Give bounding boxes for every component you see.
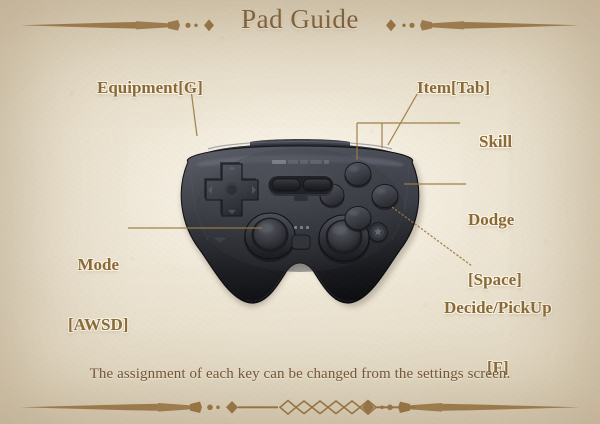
gamepad-star-button [368, 223, 388, 243]
label-decide: Decide/PickUp [F] [444, 258, 552, 418]
label-mode-key: [AWSD] [68, 315, 128, 335]
label-mode-name: Mode [68, 255, 128, 275]
label-item: Item[Tab] [400, 58, 490, 118]
label-equipment: Equipment[G] [80, 58, 203, 118]
label-mode: Mode [AWSD] [68, 215, 128, 375]
gamepad-led-indicators [294, 226, 309, 229]
gamepad-illustration [150, 118, 450, 318]
bottom-ornament-icon [18, 396, 582, 418]
label-decide-name: Decide/PickUp [444, 298, 552, 318]
gamepad-button-x [345, 162, 371, 185]
gamepad-button-a [372, 184, 398, 207]
label-dodge-name: Dodge [468, 210, 522, 230]
settings-note: The assignment of each key can be change… [0, 366, 600, 383]
label-skill-text: Skill [479, 132, 512, 151]
gamepad-button-minus [272, 179, 300, 191]
gamepad-button-b [345, 206, 371, 229]
gamepad-button-plus [303, 179, 331, 191]
label-skill: Skill [462, 112, 512, 172]
gamepad-brand-logo [272, 160, 329, 164]
gamepad-home-button [292, 235, 310, 250]
label-equipment-text: Equipment[G] [97, 78, 203, 97]
title-ornament-right-icon [382, 14, 582, 36]
gamepad-left-stick [244, 213, 296, 262]
pad-guide-screen: Pad Guide [0, 0, 600, 424]
label-item-text: Item[Tab] [417, 78, 490, 97]
